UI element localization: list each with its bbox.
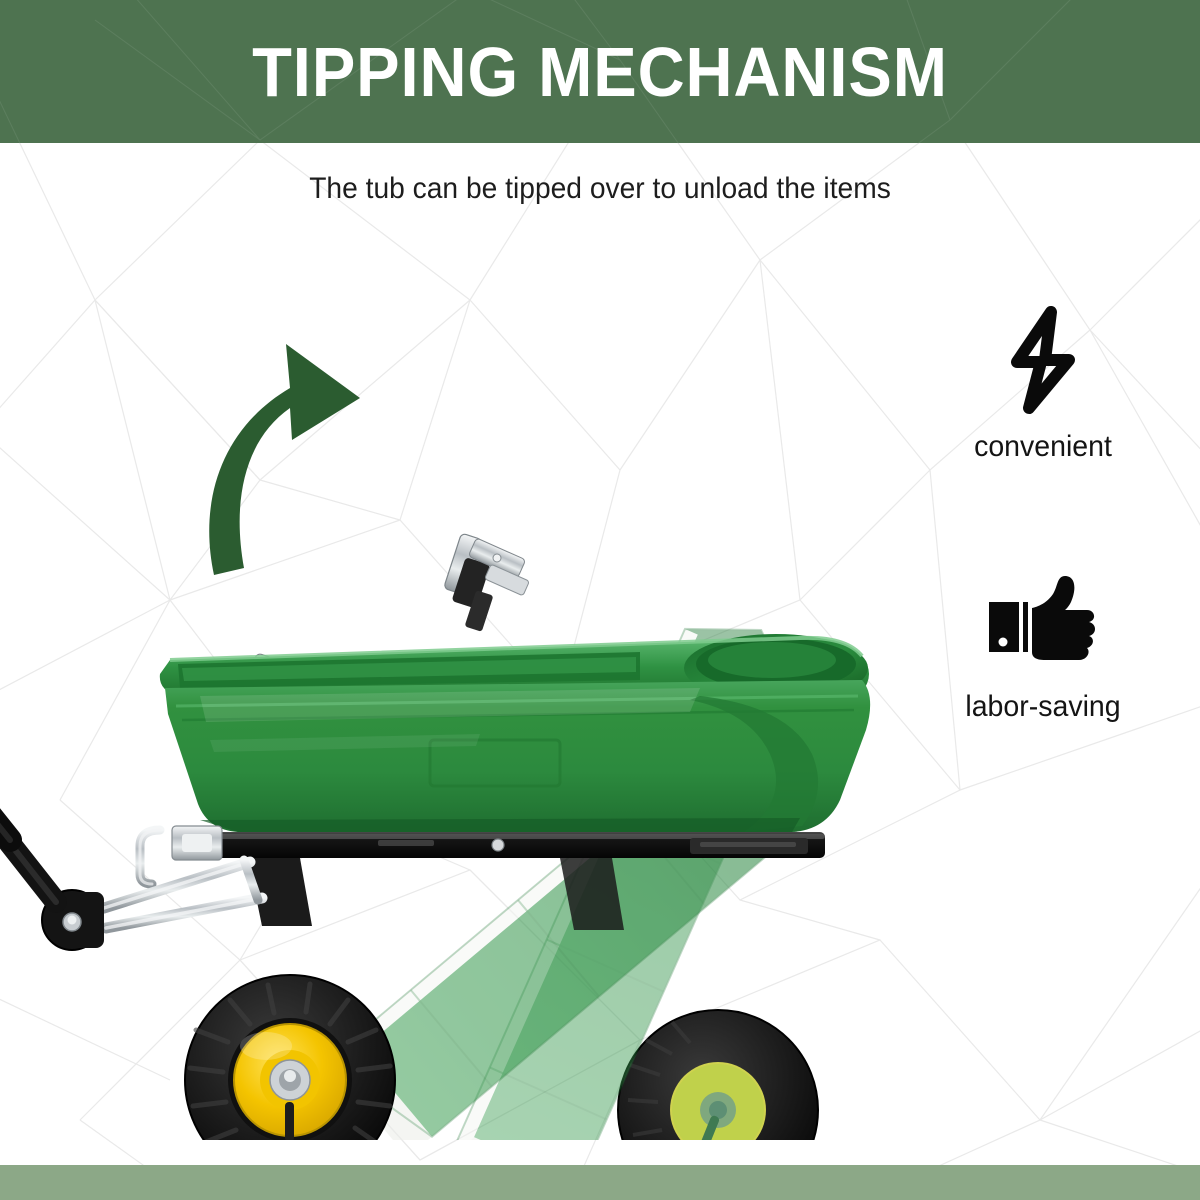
tipping-latch-hardware-upper <box>444 533 530 632</box>
tipping-direction-arrow <box>209 344 360 575</box>
rear-wheel <box>618 1010 818 1140</box>
product-illustration <box>0 140 960 1140</box>
infographic-page: TIPPING MECHANISM The tub can be tipped … <box>0 0 1200 1200</box>
footer-band <box>0 1165 1200 1200</box>
feature-labor-saving: labor-saving <box>918 560 1168 724</box>
feature-labor-saving-label: labor-saving <box>924 690 1162 724</box>
thumbs-up-icon <box>918 560 1168 680</box>
cart-tub <box>160 634 870 832</box>
page-title: TIPPING MECHANISM <box>42 0 1158 143</box>
front-wheel <box>185 975 395 1140</box>
lightning-bolt-icon <box>918 300 1168 420</box>
feature-convenient-label: convenient <box>924 430 1162 464</box>
feature-convenient: convenient <box>918 300 1168 464</box>
